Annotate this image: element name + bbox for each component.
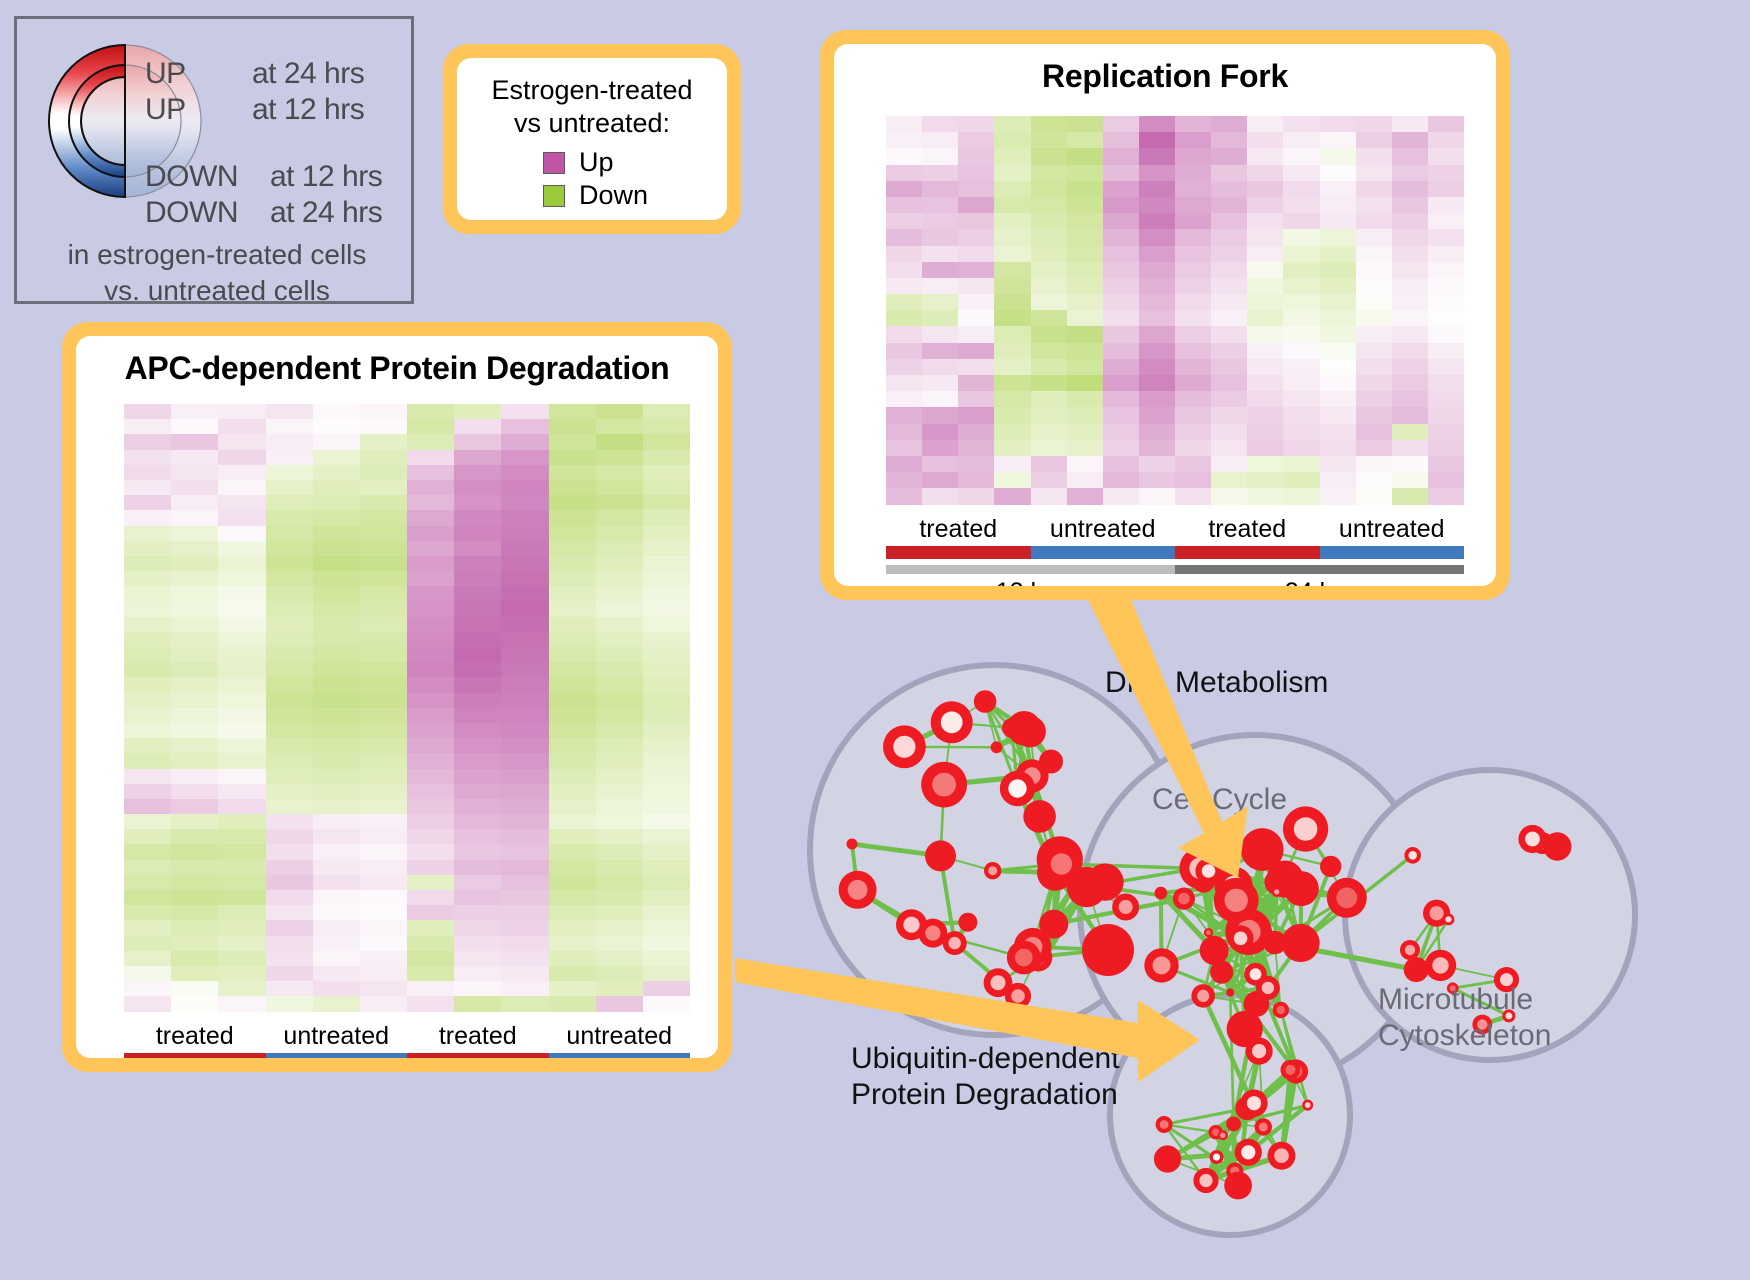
network-node[interactable]	[1086, 863, 1123, 900]
heatmap-cell	[1247, 132, 1283, 148]
heatmap-cell	[124, 601, 171, 616]
heatmap-cell	[501, 662, 548, 677]
heatmap-cell	[596, 434, 643, 449]
heatmap-cell	[218, 769, 265, 784]
heatmap-replication-fork	[886, 116, 1464, 505]
network-node[interactable]	[1282, 924, 1320, 962]
heatmap-cell	[643, 769, 690, 784]
heatmap-cell	[171, 966, 218, 981]
heatmap-cell	[171, 814, 218, 829]
heatmap-cell	[124, 905, 171, 920]
network-node[interactable]	[1039, 910, 1068, 939]
heatmap-cell	[643, 814, 690, 829]
heatmap-cell	[994, 424, 1030, 440]
network-node[interactable]	[1144, 948, 1178, 982]
network-node[interactable]	[1002, 718, 1022, 738]
heatmap-cell	[1175, 326, 1211, 342]
heatmap-cell	[1428, 326, 1464, 342]
heatmap-cell	[1211, 165, 1247, 181]
heatmap-cell	[1031, 116, 1067, 132]
heatmap-cell	[994, 132, 1030, 148]
heatmap-cell	[596, 526, 643, 541]
cluster-label-cell-cycle: Cell Cycle	[1152, 782, 1287, 818]
network-node[interactable]	[1404, 957, 1429, 982]
heatmap-cell	[360, 526, 407, 541]
network-node[interactable]	[1193, 1168, 1218, 1193]
heatmap-cell	[1067, 278, 1103, 294]
heatmap-cell	[1392, 375, 1428, 391]
heatmap-cell	[643, 510, 690, 525]
heatmap-cell	[1356, 165, 1392, 181]
heatmap-cell	[454, 814, 501, 829]
heatmap-cell	[313, 890, 360, 905]
heatmap-cell	[124, 920, 171, 935]
heatmap-cell	[454, 465, 501, 480]
heatmap-cell	[922, 148, 958, 164]
network-node[interactable]	[1240, 1090, 1267, 1117]
heatmap-cell	[1320, 472, 1356, 488]
heatmap-cell	[1139, 407, 1175, 423]
heatmap-cell	[313, 632, 360, 647]
heatmap-cell	[171, 951, 218, 966]
heatmap-cell	[1392, 472, 1428, 488]
network-node[interactable]	[931, 701, 973, 743]
network-node[interactable]	[918, 919, 947, 948]
heatmap-cell	[407, 996, 454, 1011]
network-node[interactable]	[1007, 941, 1041, 975]
heatmap-cell	[218, 753, 265, 768]
heatmap-cell	[1175, 181, 1211, 197]
network-node[interactable]	[958, 913, 977, 932]
heatmap-cell	[266, 784, 313, 799]
heatmap-cell	[1283, 326, 1319, 342]
heatmap-cell	[1031, 213, 1067, 229]
heatmap-cell	[596, 860, 643, 875]
network-node[interactable]	[1302, 1100, 1313, 1111]
heatmap-cell	[994, 359, 1030, 375]
heatmap-cell	[549, 480, 596, 495]
heatmap-cell	[501, 404, 548, 419]
heatmap-cell	[1139, 197, 1175, 213]
heatmap-cell	[360, 723, 407, 738]
network-node[interactable]	[1218, 1130, 1228, 1140]
heatmap-cell	[501, 450, 548, 465]
heatmap-cell	[1103, 326, 1139, 342]
heatmap-cell	[171, 829, 218, 844]
heatmap-cell	[313, 996, 360, 1011]
heatmap-cell	[1247, 472, 1283, 488]
heatmap-cell	[643, 875, 690, 890]
heatmap-cell	[1103, 424, 1139, 440]
timepoint-bar-segment	[886, 565, 1175, 574]
heatmap-cell	[407, 677, 454, 692]
heatmap-cell	[407, 738, 454, 753]
network-node[interactable]	[1214, 878, 1259, 923]
heatmap-cell	[360, 541, 407, 556]
network-node[interactable]	[1244, 991, 1270, 1017]
network-node[interactable]	[1283, 806, 1328, 851]
network-node[interactable]	[1246, 1038, 1273, 1065]
heatmap-cell	[549, 647, 596, 662]
heatmap-cell	[1283, 472, 1319, 488]
network-node[interactable]	[1204, 928, 1213, 937]
heatmap-cell	[266, 465, 313, 480]
heatmap-cell	[1320, 294, 1356, 310]
heatmap-cell	[501, 814, 548, 829]
heatmap-cell	[124, 723, 171, 738]
heatmap-cell	[501, 784, 548, 799]
heatmap-cell	[1031, 440, 1067, 456]
heatmap-cell	[407, 556, 454, 571]
heatmap-cell	[643, 890, 690, 905]
treatment-bar-segment	[886, 546, 1031, 559]
heatmap-cell	[1139, 262, 1175, 278]
network-node[interactable]	[1005, 983, 1031, 1009]
heatmap-cell	[1247, 375, 1283, 391]
network-node[interactable]	[1023, 800, 1056, 833]
heatmap-cell	[643, 829, 690, 844]
heatmap-cell	[886, 359, 922, 375]
heatmap-cell	[922, 488, 958, 504]
heatmap-cell	[1283, 278, 1319, 294]
heatmap-cell	[218, 920, 265, 935]
heatmap-cell	[643, 860, 690, 875]
heatmap-cell	[549, 784, 596, 799]
heatmap-cell	[501, 601, 548, 616]
heatmap-cell	[266, 510, 313, 525]
network-node[interactable]	[1154, 1145, 1181, 1172]
heatmap-cell	[454, 708, 501, 723]
heatmap-cell	[1067, 197, 1103, 213]
network-node[interactable]	[1041, 844, 1082, 885]
network-node[interactable]	[1195, 858, 1221, 884]
heatmap-cell	[549, 434, 596, 449]
heatmap-cell	[1031, 391, 1067, 407]
network-node[interactable]	[1443, 914, 1455, 926]
heatmap-cell	[266, 799, 313, 814]
heatmap-cell	[922, 440, 958, 456]
network-node[interactable]	[1173, 888, 1195, 910]
heatmap-cell	[1175, 310, 1211, 326]
heatmap-cell	[407, 465, 454, 480]
heatmap-cell	[171, 844, 218, 859]
heatmap-cell	[501, 617, 548, 632]
heatmap-cell	[313, 799, 360, 814]
heatmap-cell	[994, 407, 1030, 423]
heatmap-cell	[313, 920, 360, 935]
network-node[interactable]	[839, 871, 877, 909]
heatmap-cell	[407, 769, 454, 784]
heatmap-cell	[1247, 310, 1283, 326]
axis-group-labels-apc: treated untreated treated untreated	[124, 1022, 690, 1051]
heatmap-cell	[596, 480, 643, 495]
heatmap-cell	[360, 419, 407, 434]
heatmap-cell	[1067, 456, 1103, 472]
heatmap-cell	[1175, 456, 1211, 472]
heatmap-cell	[124, 966, 171, 981]
heatmap-cell	[1356, 359, 1392, 375]
heatmap-cell	[643, 662, 690, 677]
timepoint-bar-segment	[1175, 565, 1464, 574]
heatmap-cell	[1283, 343, 1319, 359]
heatmap-cell	[266, 556, 313, 571]
heatmap-cell	[1139, 375, 1175, 391]
heatmap-cell	[501, 996, 548, 1011]
heatmap-cell	[171, 601, 218, 616]
network-node[interactable]	[984, 862, 1001, 879]
axis-label-apc-0: treated	[124, 1022, 266, 1051]
treatment-bar-segment	[124, 1053, 266, 1059]
heatmap-cell	[171, 769, 218, 784]
heatmap-cell	[549, 981, 596, 996]
axis-label-apc-1: untreated	[266, 1022, 408, 1051]
heatmap-cell	[1428, 294, 1464, 310]
heatmap-cell	[922, 310, 958, 326]
network-node[interactable]	[1039, 750, 1063, 774]
heatmap-cell	[360, 769, 407, 784]
heatmap-cell	[1247, 181, 1283, 197]
network-node[interactable]	[1518, 825, 1546, 853]
heatmap-cell	[1067, 391, 1103, 407]
heatmap-cell	[1356, 375, 1392, 391]
heatmap-cell	[549, 723, 596, 738]
heatmap-cell	[1392, 246, 1428, 262]
heatmap-cell	[171, 571, 218, 586]
heatmap-cell	[171, 784, 218, 799]
heatmap-cell	[1356, 116, 1392, 132]
heatmap-cell	[266, 404, 313, 419]
heatmap-cell	[124, 875, 171, 890]
heatmap-cell	[501, 541, 548, 556]
heatmap-cell	[171, 541, 218, 556]
heatmap-cell	[501, 632, 548, 647]
heatmap-cell	[1031, 375, 1067, 391]
heatmap-cell	[1283, 213, 1319, 229]
heatmap-cell	[1103, 472, 1139, 488]
heatmap-cell	[313, 541, 360, 556]
heatmap-cell	[1283, 407, 1319, 423]
heatmap-cell	[922, 181, 958, 197]
heatmap-cell	[958, 407, 994, 423]
heatmap-cell	[1392, 424, 1428, 440]
heatmap-cell	[596, 723, 643, 738]
heatmap-cell	[1320, 116, 1356, 132]
network-node[interactable]	[1235, 1139, 1262, 1166]
network-node[interactable]	[1210, 1150, 1224, 1164]
heatmap-cell	[958, 294, 994, 310]
heatmap-cell	[266, 769, 313, 784]
heatmap-cell	[1356, 246, 1392, 262]
heatmap-cell	[643, 541, 690, 556]
heatmap-cell	[218, 404, 265, 419]
network-node[interactable]	[1191, 984, 1215, 1008]
heatmap-cell	[886, 391, 922, 407]
network-node[interactable]	[1000, 771, 1035, 806]
heatmap-cell	[501, 647, 548, 662]
heatmap-cell	[218, 495, 265, 510]
heatmap-cell	[596, 784, 643, 799]
heatmap-cell	[124, 465, 171, 480]
heatmap-cell	[1175, 165, 1211, 181]
heatmap-cell	[1356, 456, 1392, 472]
heatmap-cell	[596, 708, 643, 723]
heatmap-cell	[1356, 132, 1392, 148]
network-node[interactable]	[1155, 887, 1168, 900]
heatmap-cell	[1247, 294, 1283, 310]
network-node[interactable]	[1281, 1060, 1301, 1080]
network-node[interactable]	[974, 690, 997, 713]
heatmap-cell	[596, 450, 643, 465]
heatmap-cell	[454, 556, 501, 571]
heatmap-cell	[1211, 343, 1247, 359]
network-node[interactable]	[1273, 1002, 1289, 1018]
heatmap-cell	[360, 753, 407, 768]
network-node[interactable]	[1404, 847, 1421, 864]
network-node[interactable]	[1226, 1117, 1241, 1132]
heatmap-cell	[501, 586, 548, 601]
axis-label-rf-3: untreated	[1320, 515, 1465, 544]
heatmap-cell	[549, 844, 596, 859]
network-node[interactable]	[1224, 1172, 1252, 1200]
network-node[interactable]	[1425, 950, 1456, 981]
heatmap-cell	[549, 632, 596, 647]
heatmap-cell	[218, 860, 265, 875]
heatmap-cell	[643, 632, 690, 647]
heatmap-cell	[360, 936, 407, 951]
heatmap-cell	[1103, 148, 1139, 164]
heatmap-cell	[407, 951, 454, 966]
heatmap-cell	[266, 419, 313, 434]
heatmap-cell	[596, 875, 643, 890]
heatmap-cell	[124, 404, 171, 419]
heatmap-cell	[596, 617, 643, 632]
network-node[interactable]	[1225, 843, 1239, 857]
heatmap-cell	[1103, 391, 1139, 407]
network-node[interactable]	[1400, 940, 1420, 960]
heatmap-cell	[1392, 456, 1428, 472]
heatmap-cell	[922, 165, 958, 181]
network-node[interactable]	[921, 762, 967, 808]
network-node[interactable]	[1327, 878, 1367, 918]
heatmap-cell	[501, 708, 548, 723]
heatmap-cell	[1428, 132, 1464, 148]
heatmap-cell	[407, 662, 454, 677]
heatmap-cell	[218, 571, 265, 586]
heatmap-cell	[549, 738, 596, 753]
network-node[interactable]	[1543, 832, 1571, 860]
heatmap-cell	[360, 571, 407, 586]
heatmap-cell	[1067, 181, 1103, 197]
heatmap-cell	[266, 951, 313, 966]
heatmap-cell	[171, 920, 218, 935]
network-node[interactable]	[1156, 1116, 1173, 1133]
heatmap-cell	[1247, 440, 1283, 456]
heatmap-cell	[922, 424, 958, 440]
network-node[interactable]	[1200, 936, 1229, 965]
heatmap-cell	[1103, 375, 1139, 391]
legend-label-up: Up	[579, 147, 614, 178]
treatment-bar-rf	[886, 546, 1464, 559]
heatmap-cell	[1428, 229, 1464, 245]
heatmap-cell	[124, 860, 171, 875]
heatmap-cell	[1392, 132, 1428, 148]
heatmap-cell	[549, 966, 596, 981]
heatmap-cell	[1283, 391, 1319, 407]
network-node[interactable]	[1082, 924, 1134, 976]
heatmap-cell	[922, 262, 958, 278]
heatmap-cell	[643, 526, 690, 541]
heatmap-cell	[1103, 132, 1139, 148]
network-node[interactable]	[1268, 1142, 1296, 1170]
heatmap-cell	[1211, 132, 1247, 148]
heatmap-cell	[501, 510, 548, 525]
network-node[interactable]	[1272, 887, 1282, 897]
heatmap-cell	[266, 738, 313, 753]
network-node[interactable]	[1320, 856, 1341, 877]
heatmap-cell	[1211, 359, 1247, 375]
heatmap-cell	[1031, 424, 1067, 440]
heatmap-cell	[886, 472, 922, 488]
heatmap-cell	[549, 936, 596, 951]
network-node[interactable]	[1112, 894, 1139, 921]
network-node[interactable]	[847, 839, 858, 850]
heatmap-cell	[922, 456, 958, 472]
heatmap-cell	[454, 586, 501, 601]
cluster-label-microtubule: Microtubule Cytoskeleton	[1378, 982, 1551, 1054]
heatmap-cell	[218, 480, 265, 495]
network-node[interactable]	[925, 840, 956, 871]
heatmap-cell	[1356, 229, 1392, 245]
heatmap-cell	[1175, 132, 1211, 148]
heatmap-cell	[171, 860, 218, 875]
heatmap-cell	[1283, 246, 1319, 262]
heatmap-cell	[922, 294, 958, 310]
heatmap-cell	[1392, 488, 1428, 504]
heatmap-cell	[549, 814, 596, 829]
heatmap-cell	[124, 556, 171, 571]
network-node[interactable]	[1226, 988, 1234, 996]
heatmap-cell	[360, 495, 407, 510]
heatmap-cell	[596, 905, 643, 920]
heatmap-cell	[124, 951, 171, 966]
heatmap-cell	[1175, 294, 1211, 310]
heatmap-cell	[1247, 359, 1283, 375]
heatmap-cell	[1356, 181, 1392, 197]
heatmap-cell	[313, 434, 360, 449]
treatment-bar-segment	[407, 1053, 549, 1059]
heatmap-cell	[549, 526, 596, 541]
network-node[interactable]	[1228, 925, 1254, 951]
heatmap-cell	[549, 875, 596, 890]
network-node[interactable]	[991, 741, 1003, 753]
heatmap-cell	[1428, 456, 1464, 472]
legend-items: Up Down	[457, 146, 727, 212]
heatmap-cell	[218, 844, 265, 859]
heatmap-cell	[454, 951, 501, 966]
network-node[interactable]	[1255, 1118, 1272, 1135]
heatmap-cell	[1211, 440, 1247, 456]
heatmap-cell	[1356, 278, 1392, 294]
heatmap-cell	[407, 617, 454, 632]
heatmap-cell	[501, 890, 548, 905]
network-node[interactable]	[883, 725, 926, 768]
heatmap-cell	[501, 966, 548, 981]
key-note-up-24: at 24 hrs	[252, 57, 364, 91]
heatmap-cell	[1392, 407, 1428, 423]
heatmap-cell	[454, 890, 501, 905]
heatmap-cell	[171, 890, 218, 905]
heatmap-cell	[1356, 310, 1392, 326]
